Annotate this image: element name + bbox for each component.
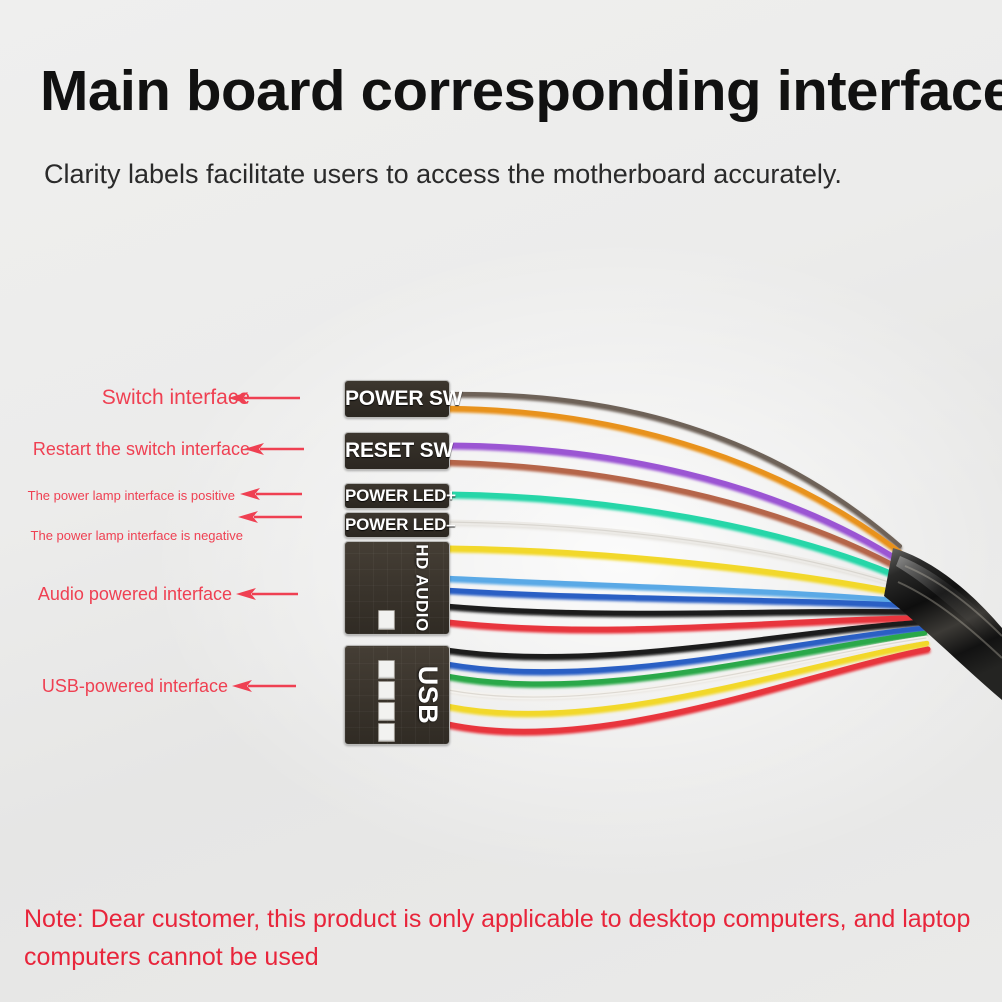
callout-power-lamp-negative: The power lamp interface is negative	[0, 527, 243, 543]
arrow-restart-switch-interface	[244, 443, 304, 455]
connector-usb[interactable]: USB	[344, 645, 450, 745]
callout-usb-powered-interface: USB-powered interface	[0, 675, 228, 697]
connector-power-sw-label: POWER SW	[345, 387, 449, 411]
callout-audio-powered-interface: Audio powered interface	[0, 583, 232, 605]
connector-power-led-minus-label: POWER LED–	[345, 515, 449, 535]
usb-pin	[378, 660, 395, 679]
connector-hd-audio-label: HD AUDIO	[411, 544, 431, 631]
connector-reset-sw-label: RESET SW	[345, 439, 449, 463]
hd-audio-pin	[378, 610, 395, 630]
callout-restart-switch-interface: Restart the switch interface	[0, 438, 250, 460]
callout-switch-interface: Switch interface	[0, 386, 250, 410]
connector-power-led-minus[interactable]: POWER LED–	[344, 512, 450, 538]
arrow-power-lamp-positive	[240, 488, 302, 500]
connector-power-sw[interactable]: POWER SW	[344, 380, 450, 418]
connector-hd-audio[interactable]: HD AUDIO	[344, 541, 450, 635]
callout-switch-interface-label: Switch interface	[102, 386, 250, 410]
arrow-audio-powered-interface	[236, 588, 298, 600]
connector-reset-sw[interactable]: RESET SW	[344, 432, 450, 470]
callout-usb-powered-interface-label: USB-powered interface	[42, 676, 228, 697]
arrow-power-lamp-negative	[238, 511, 302, 523]
usb-pin	[378, 702, 395, 721]
usb-pin	[378, 723, 395, 742]
connector-power-led-plus[interactable]: POWER LED+	[344, 483, 450, 509]
arrow-usb-powered-interface	[232, 680, 296, 692]
page-title: Main board corresponding interface	[40, 58, 989, 124]
callout-power-lamp-positive: The power lamp interface is positive	[0, 487, 235, 503]
page-subtitle: Clarity labels facilitate users to acces…	[44, 155, 984, 193]
callout-restart-switch-interface-label: Restart the switch interface	[33, 439, 250, 460]
callout-power-lamp-positive-label: The power lamp interface is positive	[28, 488, 235, 503]
footer-note: Note: Dear customer, this product is onl…	[24, 900, 984, 976]
usb-pin	[378, 681, 395, 700]
callout-audio-powered-interface-label: Audio powered interface	[38, 584, 232, 605]
callout-power-lamp-negative-label: The power lamp interface is negative	[31, 528, 243, 543]
connector-usb-label: USB	[412, 666, 443, 725]
infographic-canvas: Main board corresponding interface Clari…	[0, 0, 1002, 1002]
connector-power-led-plus-label: POWER LED+	[345, 486, 449, 506]
